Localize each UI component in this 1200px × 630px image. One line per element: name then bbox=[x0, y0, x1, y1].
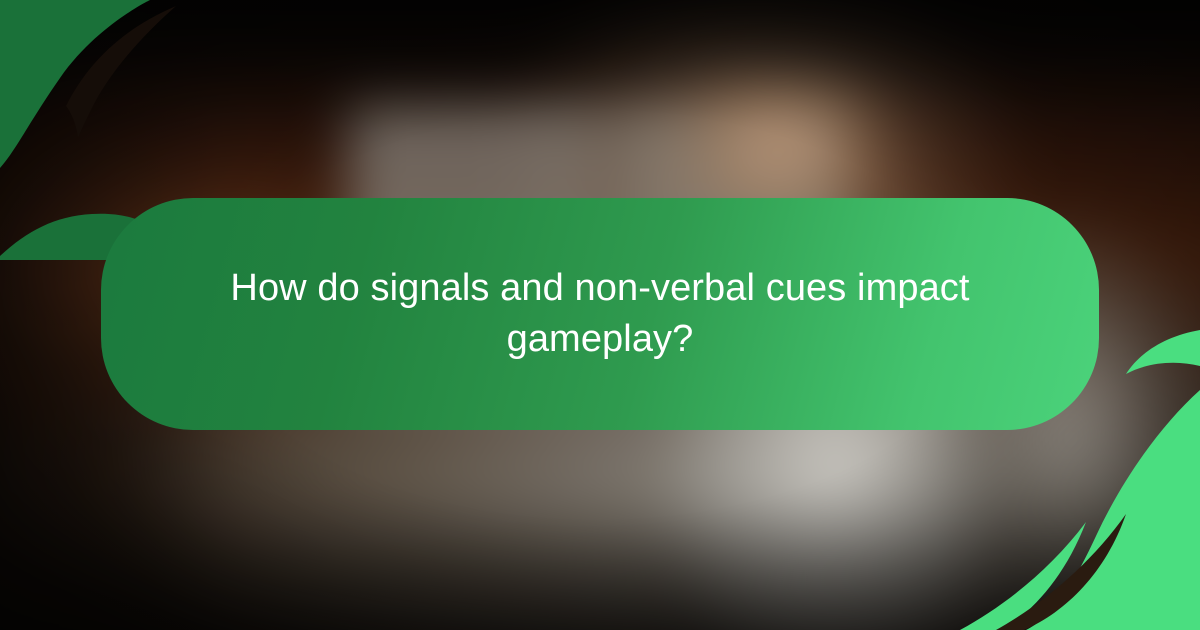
graphic-canvas: How do signals and non-verbal cues impac… bbox=[0, 0, 1200, 630]
question-card: How do signals and non-verbal cues impac… bbox=[101, 198, 1099, 430]
question-text: How do signals and non-verbal cues impac… bbox=[220, 263, 980, 366]
